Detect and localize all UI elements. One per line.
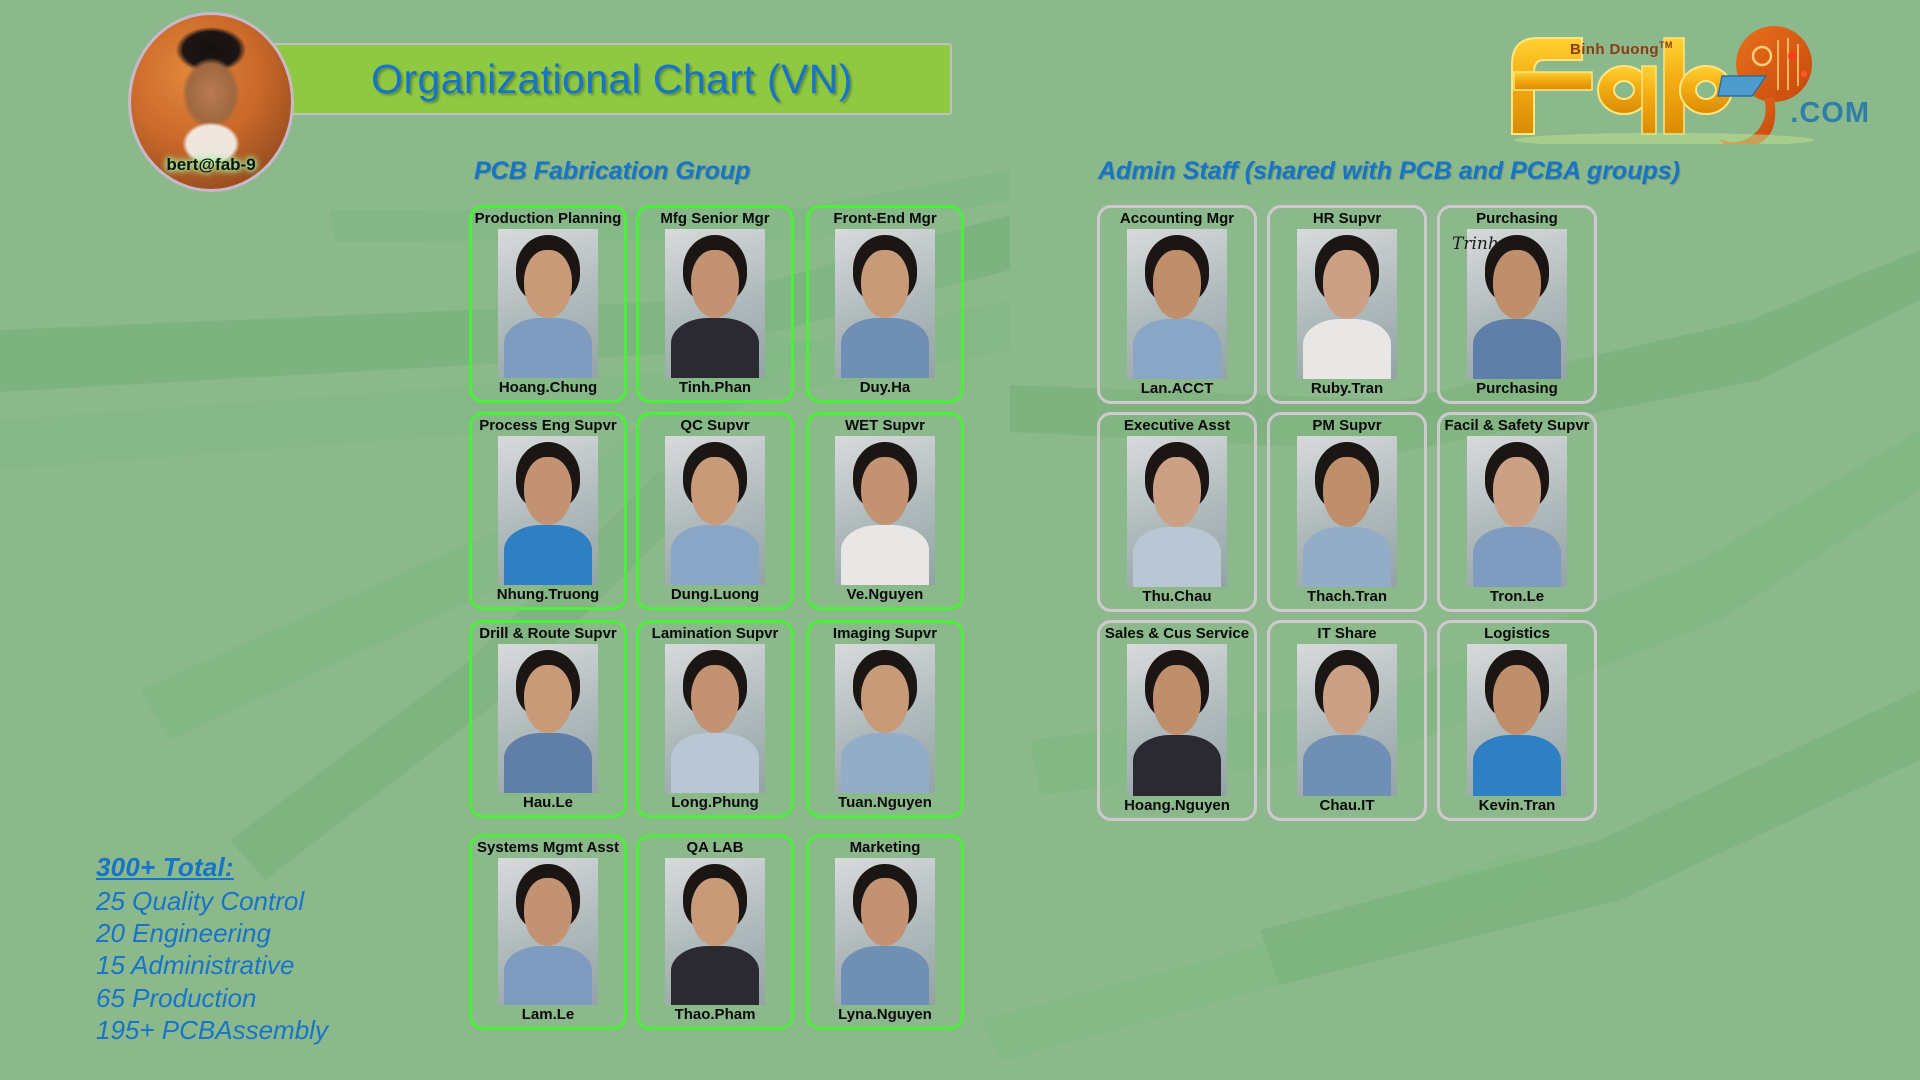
- stats-line: 65 Production: [96, 982, 328, 1014]
- avatar: bert@fab-9: [128, 12, 294, 192]
- stats-line: 25 Quality Control: [96, 885, 328, 917]
- person-photo: [1127, 644, 1227, 797]
- person-photo: [1467, 644, 1567, 797]
- person-card-title: Mfg Senior Mgr: [660, 211, 769, 227]
- person-card-title: Drill & Route Supvr: [479, 626, 617, 642]
- person-card[interactable]: PM SupvrThach.Tran: [1267, 412, 1427, 612]
- person-card-title: Sales & Cus Service: [1105, 626, 1249, 642]
- person-card[interactable]: QA LABThao.Pham: [636, 834, 794, 1030]
- person-card[interactable]: MarketingLyna.Nguyen: [806, 834, 964, 1030]
- person-card-title: Executive Asst: [1124, 418, 1230, 434]
- person-card[interactable]: WET SupvrVe.Nguyen: [806, 412, 964, 610]
- person-name: Lam.Le: [522, 1007, 575, 1023]
- person-card[interactable]: Production PlanningHoang.Chung: [469, 205, 627, 403]
- person-name: Hau.Le: [523, 795, 573, 811]
- person-card[interactable]: PurchasingPurchasingTrinh: [1437, 205, 1597, 404]
- person-photo: [835, 436, 935, 586]
- person-card-title: Production Planning: [475, 211, 622, 227]
- person-card[interactable]: Executive AsstThu.Chau: [1097, 412, 1257, 612]
- person-photo: [665, 858, 765, 1006]
- person-card[interactable]: Systems Mgmt AsstLam.Le: [469, 834, 627, 1030]
- person-photo: [1297, 229, 1397, 380]
- group-heading-pcb: PCB Fabrication Group: [474, 157, 750, 186]
- person-card-title: HR Supvr: [1313, 211, 1381, 227]
- stats-title: 300+ Total:: [96, 852, 328, 883]
- person-name: Thu.Chau: [1142, 589, 1211, 605]
- person-card-title: Imaging Supvr: [833, 626, 937, 642]
- person-card-title: Facil & Safety Supvr: [1444, 418, 1589, 434]
- person-card[interactable]: Drill & Route SupvrHau.Le: [469, 620, 627, 818]
- person-card[interactable]: Process Eng SupvrNhung.Truong: [469, 412, 627, 610]
- person-name: Thao.Pham: [675, 1007, 756, 1023]
- person-photo: [498, 229, 598, 379]
- person-card-title: QC Supvr: [680, 418, 749, 434]
- person-card-title: Marketing: [850, 840, 921, 856]
- person-card-title: Process Eng Supvr: [479, 418, 617, 434]
- person-card[interactable]: Accounting MgrLan.ACCT: [1097, 205, 1257, 404]
- person-name: Tinh.Phan: [679, 380, 751, 396]
- page-title-banner: Organizational Chart (VN): [272, 43, 952, 115]
- person-card-title: WET Supvr: [845, 418, 925, 434]
- person-card-title: Accounting Mgr: [1120, 211, 1234, 227]
- stats-line: 195+ PCBAssembly: [96, 1014, 328, 1046]
- person-name: Lan.ACCT: [1141, 381, 1214, 397]
- fab9-logo: Binh DuongTM .COM: [1474, 16, 1874, 144]
- person-name: Lyna.Nguyen: [838, 1007, 932, 1023]
- person-photo: [835, 229, 935, 379]
- person-card-title: IT Share: [1317, 626, 1376, 642]
- person-name: Nhung.Truong: [497, 587, 599, 603]
- person-card[interactable]: LogisticsKevin.Tran: [1437, 620, 1597, 821]
- person-name: Tron.Le: [1490, 589, 1544, 605]
- person-name: Duy.Ha: [860, 380, 911, 396]
- person-name: Hoang.Nguyen: [1124, 798, 1230, 814]
- person-card[interactable]: IT ShareChau.IT: [1267, 620, 1427, 821]
- person-card[interactable]: QC SupvrDung.Luong: [636, 412, 794, 610]
- group-heading-admin-rest: (shared with PCB and PCBA groups): [1238, 157, 1680, 185]
- person-card[interactable]: Sales & Cus ServiceHoang.Nguyen: [1097, 620, 1257, 821]
- person-card[interactable]: HR SupvrRuby.Tran: [1267, 205, 1427, 404]
- person-card-title: QA LAB: [687, 840, 744, 856]
- person-photo: [835, 858, 935, 1006]
- person-name: Tuan.Nguyen: [838, 795, 932, 811]
- person-card[interactable]: Lamination SupvrLong.Phung: [636, 620, 794, 818]
- person-card-title: Purchasing: [1476, 211, 1558, 227]
- person-name: Purchasing: [1476, 381, 1558, 397]
- person-name: Ruby.Tran: [1311, 381, 1383, 397]
- person-photo: [665, 229, 765, 379]
- person-card[interactable]: Facil & Safety SupvrTron.Le: [1437, 412, 1597, 612]
- person-card-title: Lamination Supvr: [652, 626, 779, 642]
- person-card[interactable]: Imaging SupvrTuan.Nguyen: [806, 620, 964, 818]
- person-name: Kevin.Tran: [1479, 798, 1556, 814]
- group-heading-pcb-bold: PCB: [474, 157, 527, 185]
- person-photo: [1297, 644, 1397, 797]
- person-card[interactable]: Front-End MgrDuy.Ha: [806, 205, 964, 403]
- logo-dotcom: .COM: [1790, 97, 1870, 130]
- logo-tagline: Binh DuongTM: [1570, 40, 1673, 58]
- person-photo: [498, 436, 598, 586]
- person-card-title: Front-End Mgr: [833, 211, 936, 227]
- person-card-title: PM Supvr: [1312, 418, 1381, 434]
- person-name: Dung.Luong: [671, 587, 759, 603]
- group-heading-pcb-rest: Fabrication Group: [527, 157, 751, 185]
- stats-line: 20 Engineering: [96, 917, 328, 949]
- person-name: Chau.IT: [1320, 798, 1375, 814]
- page-title: Organizational Chart (VN): [371, 56, 853, 103]
- person-photo: [498, 858, 598, 1006]
- person-photo: [1127, 229, 1227, 380]
- person-name: Ve.Nguyen: [847, 587, 924, 603]
- staff-statistics: 300+ Total: 25 Quality Control 20 Engine…: [96, 852, 328, 1046]
- person-photo: [665, 436, 765, 586]
- group-heading-admin: Admin Staff (shared with PCB and PCBA gr…: [1098, 157, 1680, 186]
- person-card-title: Logistics: [1484, 626, 1550, 642]
- person-name: Hoang.Chung: [499, 380, 597, 396]
- person-photo: [1467, 436, 1567, 588]
- group-heading-admin-bold: Admin Staff: [1098, 157, 1238, 185]
- person-name: Thach.Tran: [1307, 589, 1387, 605]
- person-photo: [1297, 436, 1397, 588]
- person-card-title: Systems Mgmt Asst: [477, 840, 619, 856]
- person-photo: [835, 644, 935, 794]
- person-photo: [665, 644, 765, 794]
- person-handwritten-note: Trinh: [1452, 234, 1499, 254]
- person-card[interactable]: Mfg Senior MgrTinh.Phan: [636, 205, 794, 403]
- person-photo: [498, 644, 598, 794]
- person-photo: [1127, 436, 1227, 588]
- avatar-email-label: bert@fab-9: [131, 155, 291, 175]
- stats-line: 15 Administrative: [96, 949, 328, 981]
- person-name: Long.Phung: [671, 795, 758, 811]
